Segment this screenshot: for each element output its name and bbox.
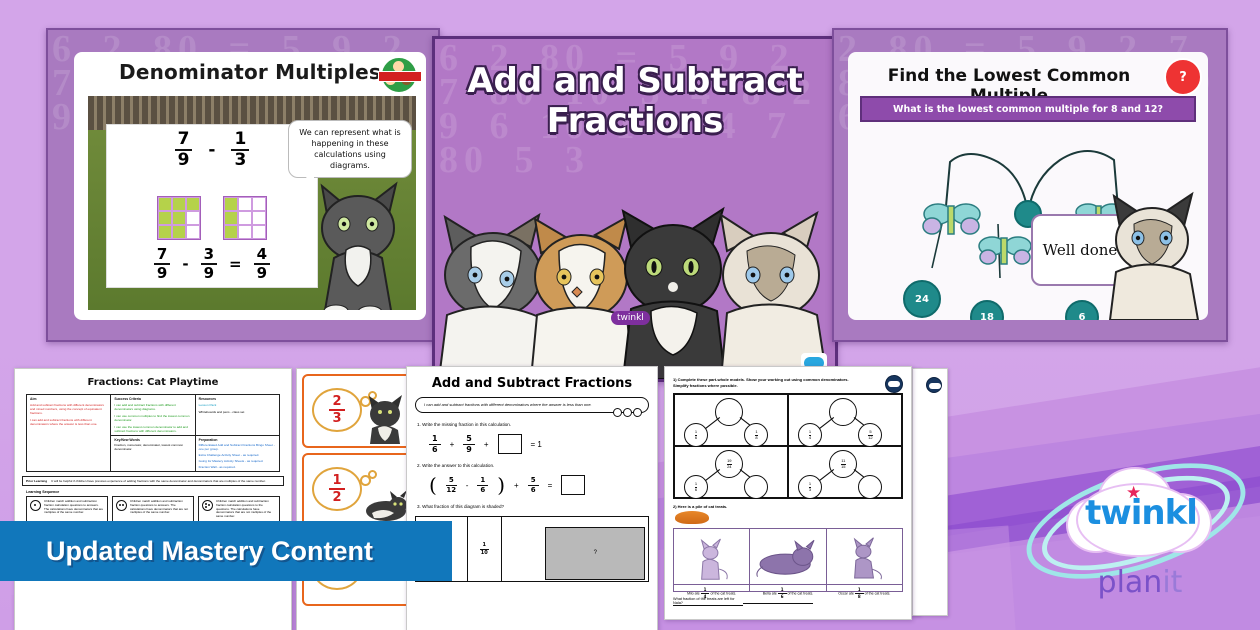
- part-whole-model: 1115 13: [788, 446, 902, 498]
- fraction: 1 3: [231, 131, 249, 169]
- slide-title: Denominator Multiples: [74, 60, 426, 84]
- fraction: 1 6: [477, 477, 488, 494]
- mobile-node[interactable]: 6: [1065, 300, 1099, 320]
- twinkl-badge-icon: [885, 375, 903, 393]
- question-2-calculation: ( 5 12 - 1 6 ) + 5 6 =: [429, 475, 657, 495]
- sequence-cell: Children match addition and subtraction …: [26, 496, 108, 523]
- sequence-cell: Children match addition and subtraction …: [112, 496, 194, 523]
- success-criteria-cell: Success Criteria I can add and subtract …: [111, 395, 195, 436]
- cat-cell: Milo ate 1 4 of the cat treats.: [674, 529, 750, 591]
- activity-sheet-document[interactable]: Add and Subtract Fractions I can add and…: [406, 366, 658, 630]
- screenshot-stage: 6 2 80 = 5 9 2 7 80 10 3 4 8 2 9 6 10 1 …: [0, 0, 1260, 630]
- logo-wordmark: twinkl: [1076, 493, 1206, 533]
- aim-cell: Aim Add and subtract fractions with diff…: [27, 395, 111, 472]
- cat-illustration: [300, 166, 416, 310]
- fraction: 5 6: [528, 477, 539, 494]
- aim-item: I can add and subtract fractions with di…: [30, 418, 107, 426]
- fraction-grid-right: [223, 196, 267, 240]
- title-line-2: Fractions: [435, 101, 835, 141]
- question-2-text: 2) Here is a pile of cat treats.: [673, 504, 903, 509]
- cat-caption: Oscar ate 1 8 of the cat treats.: [827, 584, 902, 602]
- slide-photo: 7 9 - 1 3: [88, 96, 416, 310]
- fraction: 512: [868, 430, 872, 441]
- cats-illustration: [435, 189, 835, 379]
- operator: +: [450, 440, 455, 449]
- model-left-circle: 13: [798, 475, 822, 499]
- document-title: Fractions: Cat Playtime: [15, 377, 291, 388]
- bingo-card: 2 3: [302, 374, 414, 448]
- thought-bubble: 2 3: [312, 388, 362, 432]
- aim-item: Add and subtract fractions with differen…: [30, 403, 107, 415]
- worksheet-title: Add and Subtract Fractions: [407, 376, 657, 391]
- learning-sequence-label: Learning Sequence: [26, 490, 280, 494]
- preparation-cell: Preparation Differentiated Add and Subtr…: [195, 435, 279, 472]
- die-one-icon: [30, 500, 41, 511]
- prep-item: Extra Challenge Activity Sheet - as requ…: [199, 453, 276, 457]
- sequence-text: Children match addition and subtraction …: [130, 500, 190, 519]
- question-bar: What is the lowest common multiple for 8…: [860, 96, 1196, 122]
- keywords-cell: Key/New Words Fraction, numerator, denom…: [111, 435, 195, 472]
- slide-title-add-subtract-fractions[interactable]: 6 2 80 = 5 9 2 7 80 10 3 4 8 2 9 6 10 1 …: [432, 36, 838, 382]
- part-whole-models-grid: 16 18 14: [673, 393, 903, 499]
- cat-image: [674, 529, 749, 584]
- resource-item: Whiteboards and pens - class set: [199, 410, 276, 414]
- fraction: 4 9: [254, 247, 270, 281]
- model-left-circle: 14: [798, 423, 822, 447]
- shaded-region: ?: [545, 527, 645, 580]
- diagram-column: 1 10: [468, 517, 501, 581]
- updated-mastery-banner: Updated Mastery Content: [0, 521, 452, 581]
- fraction: 1 6: [429, 435, 441, 454]
- operator: +: [514, 481, 519, 490]
- answer-box[interactable]: [561, 475, 585, 495]
- fraction: 5 12: [446, 477, 457, 494]
- whole-class-badge-icon: [380, 56, 418, 94]
- prior-learning-row: Prior Learning It will be helpful if chi…: [22, 476, 284, 486]
- banner-label: Updated Mastery Content: [46, 536, 373, 567]
- part-whole-model: 1924 16: [674, 446, 788, 498]
- prep-item: Fraction Wall - as required.: [199, 465, 276, 469]
- stacked-page: [912, 368, 948, 616]
- operator: -: [466, 481, 469, 490]
- self-assessment-circles[interactable]: [613, 408, 642, 417]
- question-1-text: 1. Write the missing fraction in this ca…: [417, 421, 647, 428]
- part-whole-model: 16 18: [674, 394, 788, 446]
- cat-cell: Oscar ate 1 8 of the cat treats.: [827, 529, 902, 591]
- prior-learning-text: It will be helpful if children have prev…: [51, 479, 266, 483]
- cat-cell: Bella ate 1 6 of the cat treats.: [750, 529, 826, 591]
- model-left-circle: 16: [684, 423, 708, 447]
- prior-learning-label: Prior Learning: [26, 479, 47, 483]
- twinkl-planit-logo[interactable]: ★ twinkl planit: [1020, 455, 1250, 615]
- prep-item: Differentiated Add and Subtract Fraction…: [199, 443, 276, 451]
- cat-image: [750, 529, 825, 584]
- fraction: 14: [809, 430, 811, 441]
- question-1-text: 1) Complete these part-whole models. Sho…: [673, 377, 855, 389]
- lesson-plan-table: Aim Add and subtract fractions with diff…: [26, 394, 280, 472]
- model-left-circle: 16: [684, 475, 708, 499]
- slide-content: Denominator Multiples 7 9 - 1 3: [74, 52, 426, 320]
- fraction: 1 8: [855, 588, 864, 599]
- diagram-column: ?: [502, 517, 649, 581]
- cat-illustration: [1100, 180, 1208, 320]
- operator: -: [208, 140, 215, 160]
- calculation-panel: 7 9 - 1 3: [106, 124, 318, 288]
- open-paren: (: [429, 478, 437, 492]
- cat-illustration: [364, 392, 408, 444]
- lesson-plan-document[interactable]: Fractions: Cat Playtime Aim Add and subt…: [14, 368, 292, 630]
- bingo-cards-document[interactable]: 2 3 1 2: [296, 368, 420, 630]
- question-1-calculation: 1 6 + 5 9 + = 1: [429, 434, 657, 454]
- fraction: 16: [695, 482, 697, 493]
- fraction: 7 9: [175, 131, 193, 169]
- operator: -: [182, 255, 188, 273]
- operator: +: [484, 440, 489, 449]
- sequence-cell: Children match addition and subtraction …: [198, 496, 280, 523]
- fraction: 13: [809, 482, 811, 493]
- operator: =: [229, 255, 242, 273]
- calculation-bottom: 7 9 - 3 9 = 4 9: [107, 247, 317, 281]
- cat-image: [827, 529, 902, 584]
- slide-lowest-common-multiple[interactable]: 2 80 = 5 9 2 7 80 10 3 4 8 2 9 6 10 1 2 …: [832, 28, 1228, 342]
- thought-bubble: 1 2: [312, 467, 362, 511]
- fraction-diagrams: [107, 196, 317, 240]
- mobile-node[interactable]: 24: [903, 280, 941, 318]
- calculation-top: 7 9 - 1 3: [107, 131, 317, 169]
- slide-content: Find the Lowest Common Multiple ? What i…: [848, 52, 1208, 320]
- keyword-item: Fraction, numerator, denominator, lowest…: [114, 443, 191, 451]
- bingo-card: 1 2: [302, 453, 414, 527]
- fraction: 3 9: [201, 247, 217, 281]
- fraction: 2 3: [329, 395, 344, 425]
- question-3-text: 3. What fraction of this diagram is shad…: [417, 503, 647, 510]
- twinkl-watermark: twinkl: [611, 311, 650, 325]
- resources-cell: Resources Lesson Pack Whiteboards and pe…: [195, 395, 279, 436]
- fraction: 1 2: [329, 474, 344, 504]
- logo-product-name: planit: [1060, 565, 1220, 600]
- close-paren: ): [497, 478, 505, 492]
- learning-sequence-row: Children match addition and subtraction …: [26, 496, 280, 523]
- resource-item: Lesson Pack: [199, 403, 276, 407]
- twinkl-badge-icon: [926, 377, 942, 393]
- fraction: 5 9: [463, 435, 475, 454]
- answer-box[interactable]: [498, 434, 522, 454]
- sequence-text: Children match addition and subtraction …: [216, 500, 276, 519]
- equals-one: = 1: [531, 440, 542, 449]
- die-three-icon: [202, 500, 213, 511]
- equals-sign: =: [548, 481, 553, 490]
- die-two-icon: [116, 500, 127, 511]
- fraction: 7 9: [154, 247, 170, 281]
- mastery-activity-sheet[interactable]: 1) Complete these part-whole models. Sho…: [664, 366, 912, 620]
- cat-treats-illustration: [675, 511, 709, 524]
- success-item: I can add and subtract fractions with di…: [114, 403, 191, 411]
- success-item: I can use the lowest common denominator …: [114, 425, 191, 433]
- success-item: I can use common multiples to find the l…: [114, 414, 191, 422]
- cats-table: Milo ate 1 4 of the cat treats. Be: [673, 528, 903, 592]
- sequence-text: Children match addition and subtraction …: [44, 500, 104, 519]
- question-2-text: 2. Write the answer to this calculation.: [417, 462, 647, 469]
- fraction-grid-left: [157, 196, 201, 240]
- fraction: 18: [755, 430, 757, 441]
- fraction: 16: [695, 430, 697, 441]
- mobile-node[interactable]: 18: [970, 300, 1004, 320]
- title-line-1: Add and Subtract: [435, 61, 835, 101]
- cat-illustration: [364, 471, 408, 523]
- prep-item: Going for Mastery Activity Sheets - as r…: [199, 459, 276, 463]
- part-whole-model: 14 512: [788, 394, 902, 446]
- slide-denominator-multiples[interactable]: 6 2 80 = 5 9 2 7 80 10 3 4 8 2 9 6 10 1 …: [46, 28, 440, 342]
- slide-main-title: Add and Subtract Fractions: [435, 61, 835, 141]
- question-mark-badge-icon: ?: [1164, 58, 1202, 96]
- success-criteria-statement: I can add and subtract fractions with di…: [415, 397, 649, 413]
- fraction: 1 10: [480, 543, 489, 556]
